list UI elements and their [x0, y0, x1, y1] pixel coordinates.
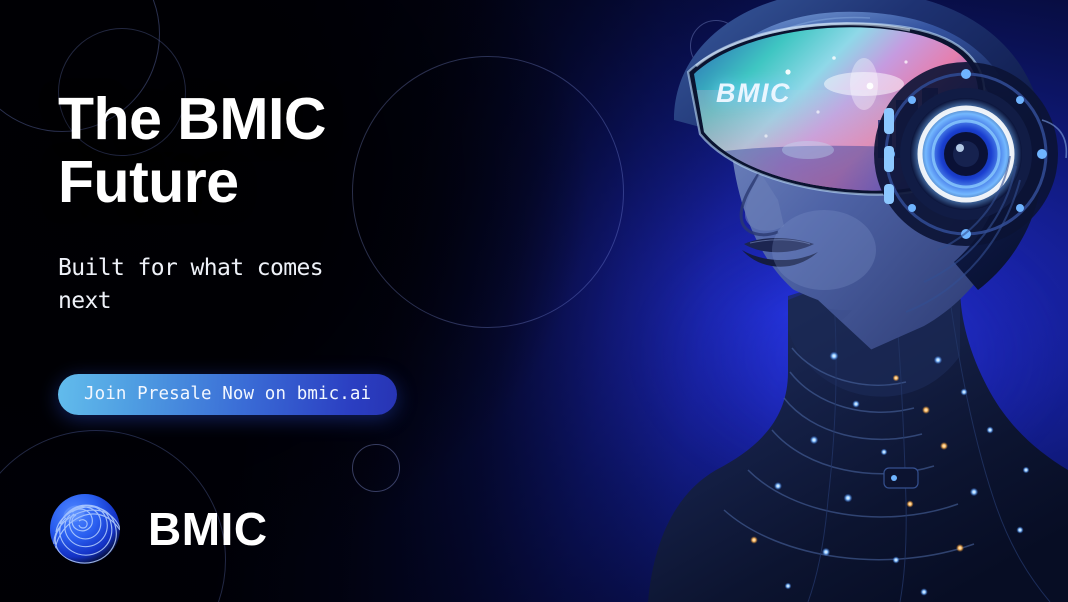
page-title: The BMIC Future — [58, 88, 478, 213]
visor-brand-text: BMIC — [716, 78, 791, 108]
headline-line-2: Future — [58, 151, 478, 214]
decorative-circle-small — [352, 444, 400, 492]
brand-logo-lockup[interactable]: BMIC — [46, 490, 268, 568]
sphere-topographic-icon — [46, 490, 124, 568]
join-presale-button[interactable]: Join Presale Now on bmic.ai — [58, 374, 397, 415]
hero-copy: The BMIC Future Built for what comes nex… — [58, 88, 478, 415]
headline-line-1: The BMIC — [58, 86, 326, 152]
hero-banner: BMIC — [0, 0, 1068, 602]
vr-woman-illustration: BMIC — [638, 0, 1068, 602]
brand-wordmark: BMIC — [148, 502, 268, 556]
hero-subheadline: Built for what comes next — [58, 252, 388, 319]
